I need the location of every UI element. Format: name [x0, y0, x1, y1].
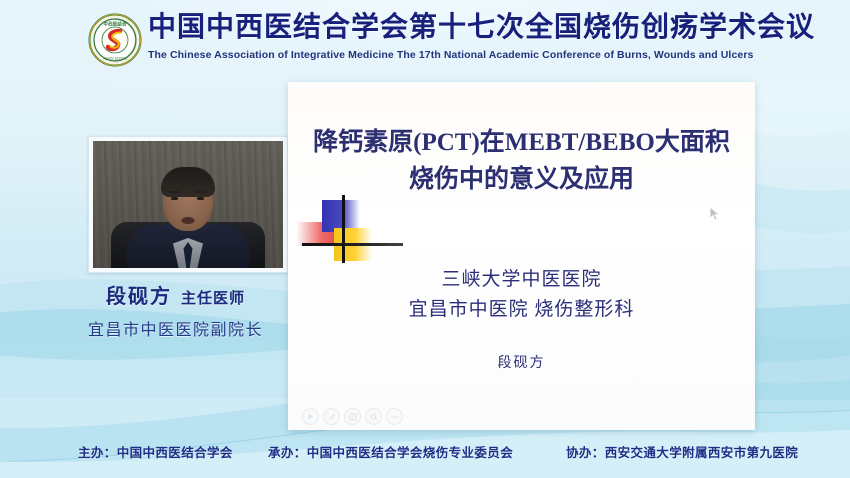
- slide-title: 降钙素原(PCT)在MEBT/BEBO大面积 烧伤中的意义及应用: [308, 124, 735, 198]
- caim-emblem-icon: 中西医结合 ASSOCIATION: [88, 13, 142, 67]
- speaker-caption: 段砚方主任医师 宜昌市中医医院副院长: [58, 280, 293, 340]
- presentation-toolbar[interactable]: [302, 408, 403, 425]
- speaker-role: 主任医师: [181, 291, 245, 307]
- slide-panel[interactable]: 降钙素原(PCT)在MEBT/BEBO大面积 烧伤中的意义及应用 三峡大学中医医…: [288, 82, 755, 430]
- svg-text:ASSOCIATION: ASSOCIATION: [103, 57, 127, 61]
- footer-co-organizer: 协办：西安交通大学附属西安市第九医院: [566, 442, 798, 461]
- video-vignette: [93, 141, 283, 268]
- slide-title-line2: 烧伤中的意义及应用: [308, 161, 735, 198]
- conference-title-en: The Chinese Association of Integrative M…: [148, 47, 788, 63]
- slide-title-line1: 降钙素原(PCT)在MEBT/BEBO大面积: [313, 129, 730, 156]
- presentation-screen: 中西医结合 ASSOCIATION 中国中西医结合学会第十七次全国烧伤创疡学术会…: [0, 0, 850, 478]
- pointer-tool-icon[interactable]: [302, 408, 319, 425]
- slide-org-line2: 宜昌市中医院 烧伤整形科: [308, 295, 735, 325]
- conference-title-cn: 中国中西医结合学会第十七次全国烧伤创疡学术会议: [148, 10, 788, 46]
- speaker-video-tile[interactable]: [88, 136, 288, 273]
- speaker-name: 段砚方: [106, 286, 172, 308]
- svg-text:中西医结合: 中西医结合: [104, 21, 127, 28]
- speaker-webcam[interactable]: [93, 141, 283, 268]
- more-options-icon[interactable]: [386, 408, 403, 425]
- speaker-name-row: 段砚方主任医师: [58, 280, 293, 309]
- pen-tool-icon[interactable]: [323, 408, 340, 425]
- slide-organization: 三峡大学中医医院 宜昌市中医院 烧伤整形科: [308, 265, 735, 325]
- deco-horizontal-line: [302, 243, 403, 246]
- slide-author: 段砚方: [308, 352, 735, 372]
- footer-organizer: 承办：中国中西医结合学会烧伤专业委员会: [268, 442, 513, 461]
- slides-grid-icon[interactable]: [344, 408, 361, 425]
- deco-vertical-line: [342, 195, 345, 263]
- header-text-block: 中国中西医结合学会第十七次全国烧伤创疡学术会议 The Chinese Asso…: [148, 10, 788, 63]
- speaker-affiliation: 宜昌市中医医院副院长: [58, 316, 293, 340]
- conference-footer: 主办：中国中西医结合学会 承办：中国中西医结合学会烧伤专业委员会 协办：西安交通…: [0, 426, 850, 478]
- zoom-tool-icon[interactable]: [365, 408, 382, 425]
- mouse-cursor-icon: [709, 206, 721, 222]
- slide-org-line1: 三峡大学中医医院: [308, 265, 735, 295]
- crossing-lines-squares-graphic: [296, 195, 406, 267]
- slide-canvas[interactable]: 降钙素原(PCT)在MEBT/BEBO大面积 烧伤中的意义及应用 三峡大学中医医…: [288, 82, 755, 430]
- footer-host: 主办：中国中西医结合学会: [78, 442, 233, 461]
- conference-header: 中西医结合 ASSOCIATION 中国中西医结合学会第十七次全国烧伤创疡学术会…: [0, 0, 850, 78]
